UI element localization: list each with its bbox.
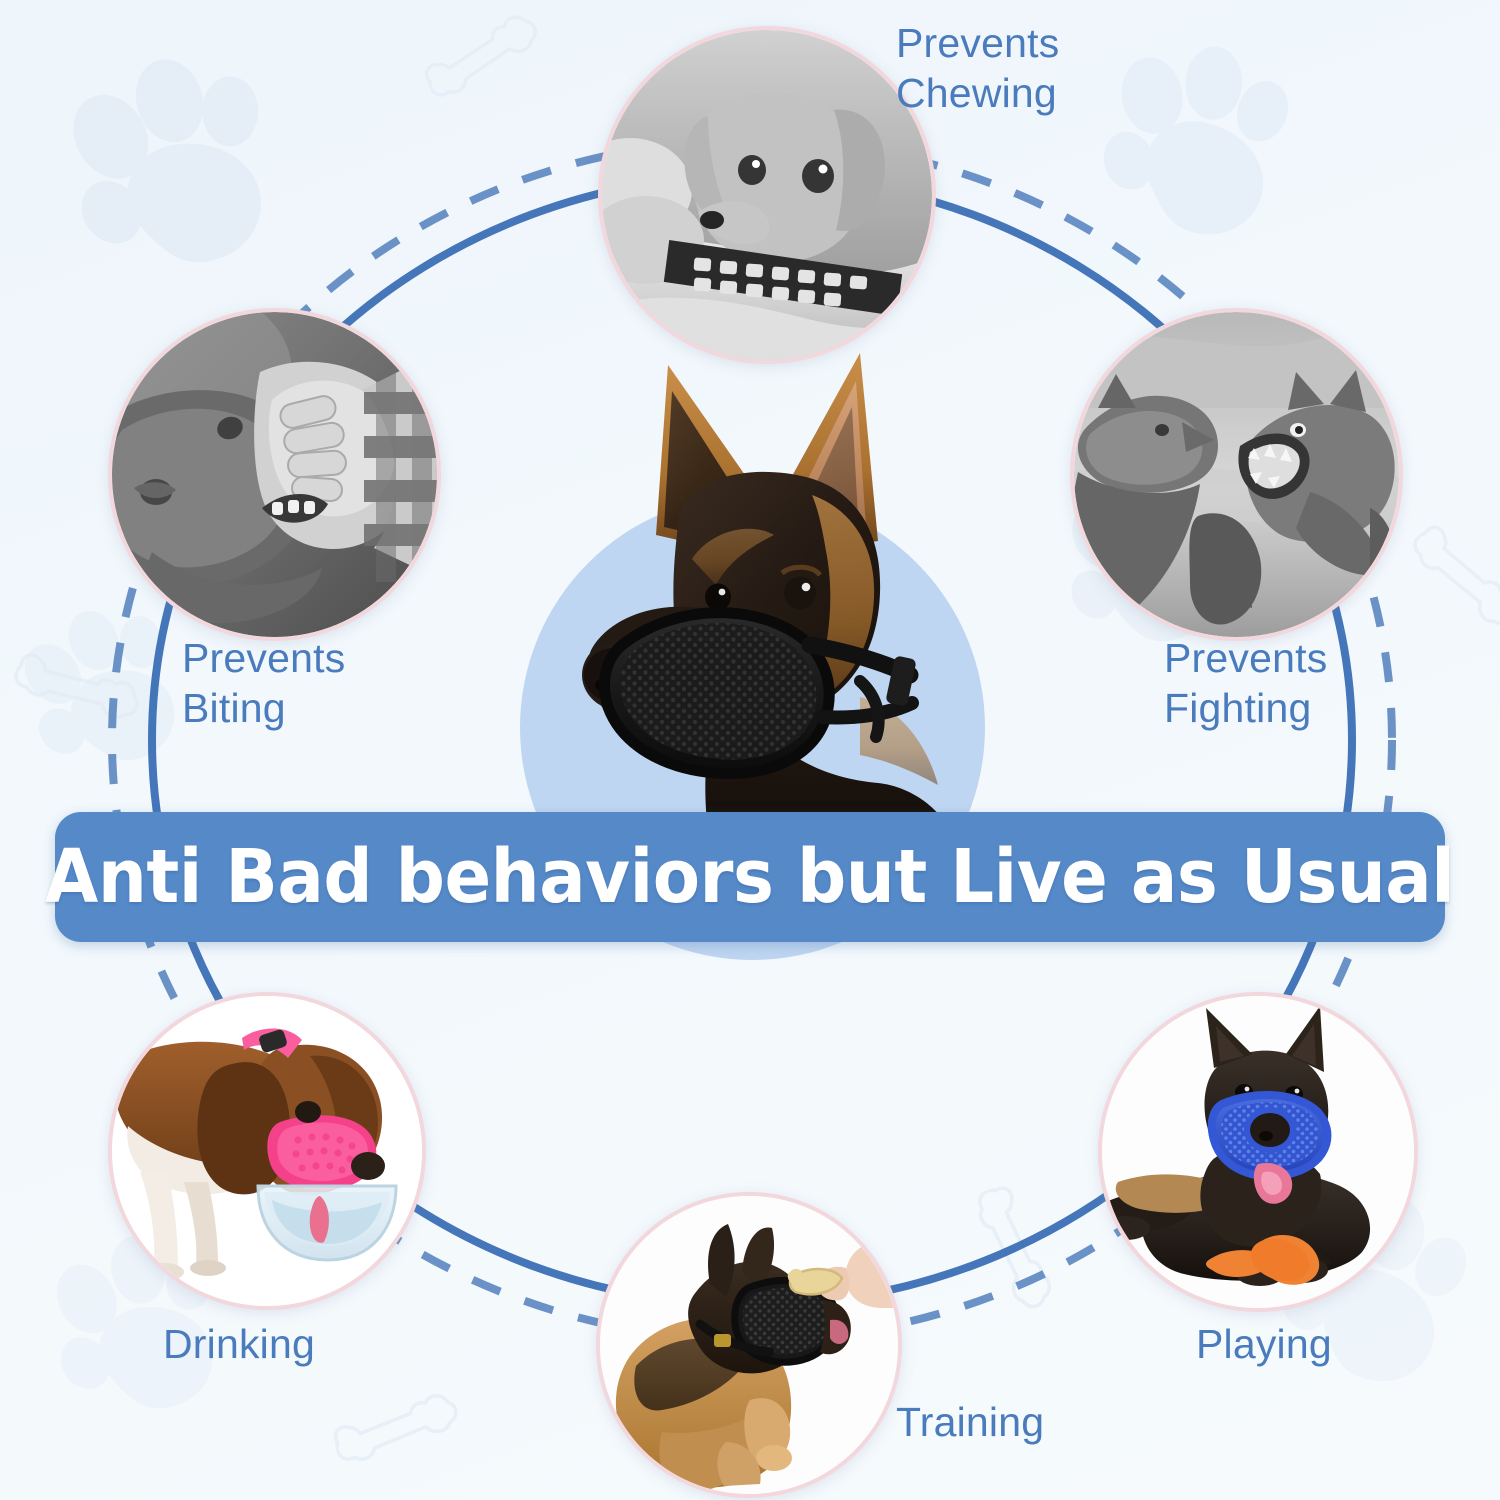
feature-photo-playing[interactable] (1098, 992, 1418, 1312)
malinois-playing-photo (1102, 996, 1414, 1308)
product-infographic: Prevents Chewing (0, 0, 1500, 1500)
feature-photo-prevents-chewing[interactable] (598, 26, 936, 364)
dog-biting-arm-photo (112, 312, 437, 637)
puppy-chewing-remote-photo (602, 30, 932, 360)
headline-text: Anti Bad behaviors but Live as Usual (45, 834, 1454, 920)
beagle-drinking-photo (112, 996, 422, 1306)
feature-label-drinking: Drinking (163, 1320, 463, 1368)
feature-label-prevents-chewing: Prevents Chewing (896, 18, 1226, 118)
dog-bone-icon (1, 638, 150, 756)
feature-label-prevents-biting: Prevents Biting (182, 633, 512, 733)
feature-label-playing: Playing (1196, 1320, 1496, 1368)
dog-training-with-treat-photo (600, 1196, 898, 1494)
headline-banner: Anti Bad behaviors but Live as Usual (55, 812, 1445, 942)
hero-dog-with-muzzle (560, 345, 980, 845)
dog-bone-icon (416, 4, 560, 124)
feature-photo-training[interactable] (596, 1192, 902, 1498)
two-dogs-fighting-photo (1074, 312, 1399, 637)
paw-print-icon (0, 577, 206, 803)
dog-bone-icon (949, 1179, 1061, 1326)
paw-print-icon (36, 28, 295, 303)
feature-label-prevents-fighting: Prevents Fighting (1164, 633, 1494, 733)
feature-photo-drinking[interactable] (108, 992, 426, 1310)
feature-photo-prevents-fighting[interactable] (1070, 308, 1403, 641)
dog-bone-icon (328, 1385, 472, 1489)
feature-label-training: Training (896, 1398, 1196, 1446)
feature-photo-prevents-biting[interactable] (108, 308, 441, 641)
